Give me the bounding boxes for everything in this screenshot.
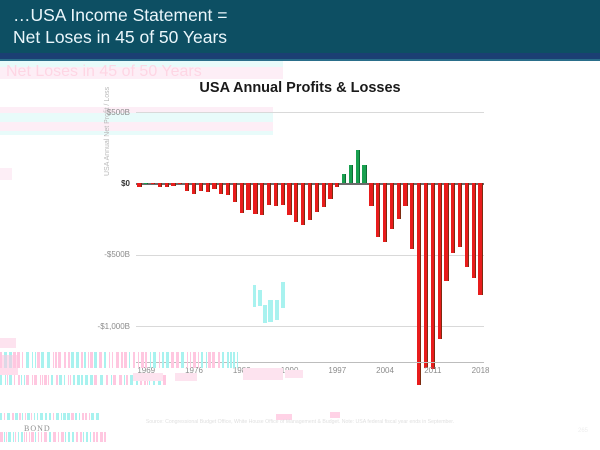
bar-2018	[478, 183, 482, 294]
bar-fill	[315, 183, 319, 212]
ghost-title-text: Net Loses in 45 of 50 Years	[6, 62, 336, 81]
y-axis-tick-label: -$1,000B	[0, 322, 130, 331]
artifact-stripe	[29, 432, 30, 442]
bar-1978	[206, 183, 210, 191]
artifact-stripe	[26, 432, 27, 442]
page-number: 265	[578, 428, 588, 434]
artifact-stripe	[163, 375, 166, 385]
bar-1994	[315, 183, 319, 212]
brand-logo: BOND	[24, 424, 51, 433]
artifact-stripe	[53, 352, 54, 368]
artifact-stripe	[85, 375, 88, 385]
artifact-stripe	[90, 375, 93, 385]
bar-series	[136, 112, 484, 362]
artifact-stripe	[9, 352, 12, 368]
bar-fill	[219, 183, 223, 194]
bar-1968	[137, 183, 141, 187]
bar-fill	[451, 183, 455, 252]
bar-fill	[158, 183, 162, 186]
bar-fill	[178, 183, 182, 184]
artifact-stripe	[38, 432, 39, 442]
artifact-stripe	[5, 375, 6, 385]
artifact-stripe	[68, 432, 70, 442]
artifact-stripe	[9, 375, 12, 385]
bar-1969	[144, 183, 148, 184]
artifact-stripe	[34, 375, 37, 385]
bar-fill	[465, 183, 469, 267]
bar-1986	[260, 183, 264, 215]
artifact-stripe	[73, 375, 75, 385]
bar-1974	[178, 183, 182, 184]
artifact-stripe	[126, 375, 128, 385]
artifact-stripe	[94, 375, 97, 385]
bar-1972	[165, 183, 169, 186]
artifact-stripe	[14, 375, 15, 385]
artifact-stripe	[104, 432, 106, 442]
bar-fill	[369, 183, 373, 206]
artifact-stripe	[49, 432, 51, 442]
bar-fill	[403, 183, 407, 206]
x-axis-tick-label: 1990	[281, 366, 299, 375]
artifact-stripe	[76, 352, 79, 368]
bar-1979	[212, 183, 216, 189]
artifact-stripe	[4, 432, 5, 442]
artifact-stripe	[7, 375, 8, 385]
artifact-stripe	[80, 432, 82, 442]
bar-fill	[356, 150, 360, 184]
bar-1970	[151, 183, 155, 184]
bar-1990	[287, 183, 291, 215]
page-title: …USA Income Statement = Net Loses in 45 …	[13, 4, 573, 48]
bar-1977	[199, 183, 203, 191]
artifact-stripe	[96, 432, 98, 442]
x-axis-tick-label: 1997	[328, 366, 346, 375]
bar-fill	[260, 183, 264, 215]
bar-2000	[356, 150, 360, 184]
artifact-stripe	[90, 432, 91, 442]
source-note: Source: Congressional Budget Office, Whi…	[0, 419, 600, 425]
artifact-stripe	[24, 375, 25, 385]
artifact-stripe	[58, 352, 61, 368]
bar-2002	[369, 183, 373, 206]
artifact-stripe	[133, 352, 135, 368]
bar-fill	[472, 183, 476, 278]
bar-fill	[478, 183, 482, 294]
bar-fill	[308, 183, 312, 219]
x-axis-tick-label: 1983	[233, 366, 251, 375]
bar-2004	[383, 183, 387, 242]
bar-fill	[383, 183, 387, 242]
artifact-stripe	[48, 375, 49, 385]
artifact-band	[0, 61, 283, 67]
artifact-stripe	[94, 352, 97, 368]
artifact-stripe	[64, 352, 66, 368]
bar-2001	[362, 165, 366, 183]
artifact-stripe	[21, 432, 23, 442]
bar-1989	[281, 183, 285, 205]
artifact-stripe	[35, 352, 36, 368]
bar-2005	[390, 183, 394, 228]
bar-fill	[137, 183, 141, 187]
artifact-stripe	[65, 432, 66, 442]
artifact-stripe	[113, 375, 116, 385]
bar-1996	[328, 183, 332, 198]
artifact-stripe	[90, 352, 93, 368]
bar-fill	[240, 183, 244, 213]
bar-1995	[322, 183, 326, 206]
x-axis-tick-label: 2018	[472, 366, 490, 375]
artifact-stripe	[106, 375, 108, 385]
bar-1980	[219, 183, 223, 194]
bar-fill	[206, 183, 210, 191]
bar-fill	[362, 165, 366, 183]
artifact-stripe	[53, 432, 56, 442]
bar-1997	[335, 183, 339, 186]
artifact-stripe	[99, 352, 102, 368]
bar-1975	[185, 183, 189, 191]
artifact-stripe	[40, 375, 41, 385]
artifact-stripe	[47, 352, 50, 368]
artifact-stripe	[83, 432, 84, 442]
bar-1976	[192, 183, 196, 194]
header-divider-accent	[0, 59, 600, 61]
artifact-stripe	[42, 375, 43, 385]
bar-fill	[342, 174, 346, 184]
bar-fill	[199, 183, 203, 191]
artifact-stripe	[18, 432, 19, 442]
bar-1971	[158, 183, 162, 186]
artifact-stripe	[77, 375, 80, 385]
artifact-stripe	[100, 375, 103, 385]
bar-1991	[294, 183, 298, 221]
bar-2011	[431, 183, 435, 369]
bar-1993	[308, 183, 312, 219]
artifact-stripe	[61, 432, 64, 442]
artifact-stripe	[0, 338, 16, 348]
artifact-stripe	[24, 432, 25, 442]
artifact-stripe	[330, 412, 340, 418]
artifact-stripe	[55, 352, 57, 368]
bar-fill	[335, 183, 339, 186]
bar-2012	[438, 183, 442, 338]
bar-2008	[410, 183, 414, 249]
artifact-stripe	[8, 432, 11, 442]
artifact-stripe	[121, 352, 123, 368]
bar-2006	[397, 183, 401, 218]
artifact-stripe	[44, 432, 47, 442]
y-axis-tick-label: $0	[0, 179, 130, 188]
x-axis-tick-label: 2004	[376, 366, 394, 375]
bar-fill	[274, 183, 278, 205]
artifact-stripe	[88, 352, 89, 368]
bar-2016	[465, 183, 469, 267]
bar-fill	[424, 183, 428, 368]
bar-fill	[438, 183, 442, 338]
artifact-stripe	[58, 432, 59, 442]
bar-2015	[458, 183, 462, 246]
artifact-stripe	[68, 352, 70, 368]
artifact-stripe	[64, 375, 65, 385]
artifact-stripe	[116, 352, 119, 368]
artifact-stripe	[22, 352, 23, 368]
bar-fill	[322, 183, 326, 206]
artifact-stripe	[26, 352, 29, 368]
bar-2013	[444, 183, 448, 280]
artifact-stripe	[59, 375, 62, 385]
artifact-stripe	[6, 432, 7, 442]
bar-fill	[192, 183, 196, 194]
bar-fill	[328, 183, 332, 198]
bar-fill	[246, 183, 250, 209]
bar-2007	[403, 183, 407, 206]
bar-2009	[417, 183, 421, 385]
bar-fill	[171, 183, 175, 185]
artifact-stripe	[0, 355, 18, 375]
artifact-stripe	[81, 375, 83, 385]
bar-1973	[171, 183, 175, 185]
artifact-stripe	[76, 432, 78, 442]
artifact-stripe	[15, 432, 16, 442]
artifact-stripe	[100, 432, 103, 442]
bar-2014	[451, 183, 455, 252]
artifact-stripe	[26, 375, 29, 385]
artifact-stripe	[68, 375, 69, 385]
bar-fill	[410, 183, 414, 249]
artifact-stripe	[129, 352, 130, 368]
bar-1983	[240, 183, 244, 213]
bar-fill	[444, 183, 448, 280]
artifact-stripe	[35, 432, 36, 442]
artifact-stripe	[124, 375, 125, 385]
bar-fill	[431, 183, 435, 369]
artifact-stripe	[13, 432, 14, 442]
artifact-stripe	[104, 352, 106, 368]
artifact-stripe	[84, 352, 86, 368]
artifact-band	[0, 67, 283, 79]
artifact-stripe	[144, 375, 146, 385]
bar-1985	[253, 183, 257, 213]
bar-fill	[212, 183, 216, 189]
bar-2003	[376, 183, 380, 237]
bar-fill	[267, 183, 271, 204]
bar-fill	[397, 183, 401, 218]
y-axis-tick-label: $500B	[0, 108, 130, 117]
bar-fill	[287, 183, 291, 215]
artifact-stripe	[21, 375, 22, 385]
artifact-stripe	[4, 352, 7, 368]
bar-1987	[267, 183, 271, 204]
bar-fill	[144, 183, 148, 184]
bar-1988	[274, 183, 278, 205]
x-axis-tick-label: 1969	[137, 366, 155, 375]
bar-1981	[226, 183, 230, 194]
bar-fill	[151, 183, 155, 184]
artifact-stripe	[41, 352, 44, 368]
bar-1982	[233, 183, 237, 201]
y-axis-label: USA Annual Net Profit / Loss	[104, 87, 111, 176]
bar-fill	[458, 183, 462, 246]
artifact-stripe	[37, 352, 40, 368]
bar-fill	[233, 183, 237, 201]
artifact-stripe	[149, 375, 150, 385]
artifact-stripe	[13, 352, 16, 368]
bar-fill	[417, 183, 421, 385]
artifact-stripe	[72, 432, 74, 442]
artifact-stripe	[0, 352, 2, 368]
bar-1998	[342, 174, 346, 184]
bar-fill	[294, 183, 298, 221]
artifact-stripe	[32, 352, 33, 368]
y-axis-tick-label: -$500B	[0, 250, 130, 259]
bar-fill	[226, 183, 230, 194]
bar-fill	[376, 183, 380, 237]
artifact-stripe	[56, 375, 58, 385]
artifact-stripe	[111, 375, 112, 385]
bar-fill	[281, 183, 285, 205]
bar-1999	[349, 165, 353, 183]
bar-1984	[246, 183, 250, 209]
artifact-stripe	[86, 432, 88, 442]
artifact-stripe	[93, 432, 95, 442]
bar-fill	[253, 183, 257, 213]
artifact-stripe	[136, 375, 138, 385]
x-axis-tick-label: 2011	[424, 366, 441, 375]
artifact-stripe	[112, 352, 113, 368]
artifact-stripe	[0, 432, 3, 442]
artifact-stripe	[70, 375, 71, 385]
bar-2017	[472, 183, 476, 278]
artifact-stripe	[18, 375, 20, 385]
bar-fill	[349, 165, 353, 183]
artifact-stripe	[130, 375, 133, 385]
artifact-stripe	[81, 352, 83, 368]
artifact-stripe	[17, 352, 20, 368]
artifact-stripe	[153, 375, 155, 385]
artifact-stripe	[119, 375, 122, 385]
artifact-stripe	[32, 375, 33, 385]
artifact-stripe	[31, 432, 34, 442]
plot-area	[136, 112, 484, 362]
artifact-stripe	[109, 352, 110, 368]
artifact-stripe	[158, 375, 161, 385]
bar-fill	[185, 183, 189, 191]
x-axis-tick-label: 1976	[185, 366, 203, 375]
bar-fill	[165, 183, 169, 186]
bar-2010	[424, 183, 428, 368]
x-axis-line	[136, 362, 484, 363]
bar-fill	[390, 183, 394, 228]
artifact-stripe	[124, 352, 127, 368]
artifact-stripe	[71, 352, 74, 368]
artifact-stripe	[140, 375, 142, 385]
artifact-stripe	[0, 375, 2, 385]
artifact-stripe	[51, 375, 53, 385]
bar-1992	[301, 183, 305, 224]
artifact-stripe	[147, 375, 148, 385]
slide: …USA Income Statement = Net Loses in 45 …	[0, 0, 600, 450]
bar-fill	[301, 183, 305, 224]
chart-title: USA Annual Profits & Losses	[0, 80, 600, 96]
artifact-stripe	[44, 375, 47, 385]
artifact-stripe	[41, 432, 42, 442]
